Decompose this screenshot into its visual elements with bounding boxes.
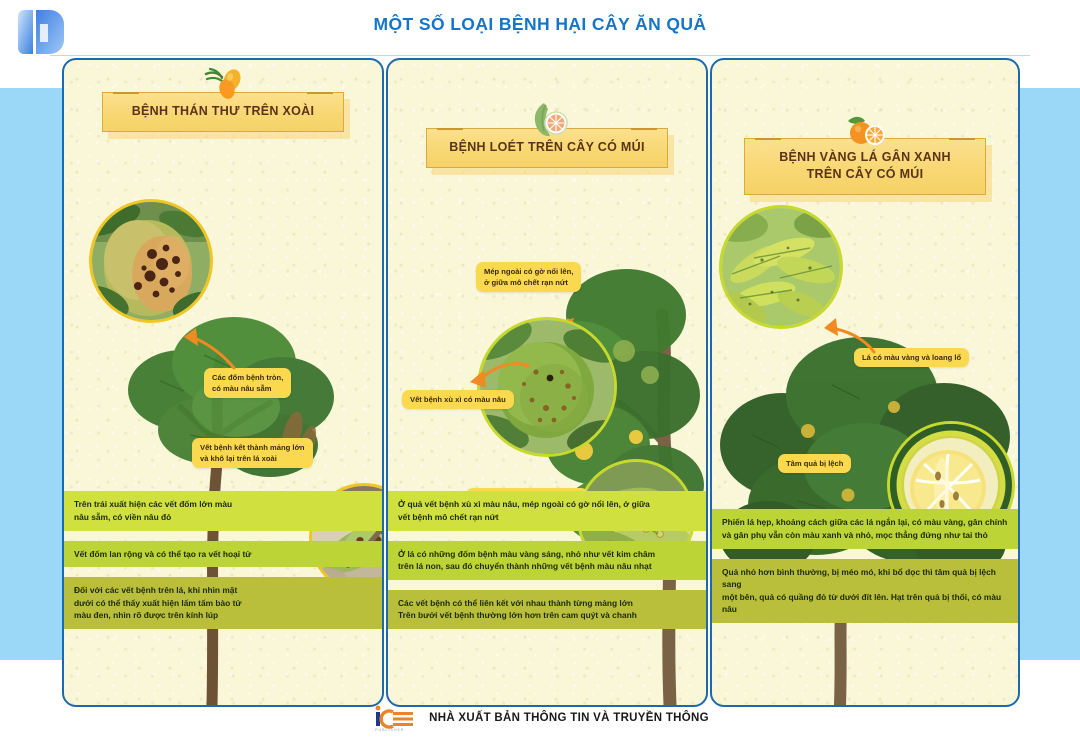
panel-citrus-canker: BỆNH LOÉT TRÊN CÂY CÓ MÚI Mép ngoài có g… — [386, 58, 708, 707]
footer: PUBLISHER NHÀ XUẤT BẢN THÔNG TIN VÀ TRUY… — [0, 704, 1080, 732]
panel-2-plaque: BỆNH LOÉT TRÊN CÂY CÓ MÚI — [426, 128, 668, 168]
orange-icon — [842, 111, 888, 149]
citrus-fruit-canker-photo — [480, 320, 614, 454]
page-title: MỘT SỐ LOẠI BỆNH HẠI CÂY ĂN QUẢ — [0, 14, 1080, 35]
panel-3-facts: Phiến lá hẹp, khoảng cách giữa các lá ng… — [712, 509, 1018, 633]
panel-3-heading-text: BỆNH VÀNG LÁ GÂN XANH TRÊN CÂY CÓ MÚI — [761, 149, 969, 183]
panel-1-plaque: BỆNH THÁN THƯ TRÊN XOÀI — [102, 92, 344, 132]
panel-mango-anthracnose: BỆNH THÁN THƯ TRÊN XOÀI — [62, 58, 384, 707]
header-divider — [50, 55, 1030, 56]
panel-citrus-greening: BỆNH VÀNG LÁ GÂN XANH TRÊN CÂY CÓ MÚI — [710, 58, 1020, 707]
panel-3-fact-1: Phiến lá hẹp, khoảng cách giữa các lá ng… — [712, 509, 1018, 548]
panel-1-facts: Trên trái xuất hiện các vết đốm lớn màu … — [64, 491, 382, 639]
greening-yellow-leaf-photo — [722, 208, 840, 326]
plaque-tick-right — [949, 138, 975, 140]
panel-1-fact-2: Vết đốm lan rộng và có thể tạo ra vết ho… — [64, 541, 382, 568]
plaque-tick-right — [631, 128, 657, 130]
panel-3-heading-block: BỆNH VÀNG LÁ GÂN XANH TRÊN CÂY CÓ MÚI — [712, 138, 1018, 195]
panel-2-callout-2: Vết bệnh xù xì có màu nâu — [402, 390, 514, 409]
panel-1-callout-2: Vết bệnh kết thành mảng lớn và khô lại t… — [192, 438, 313, 468]
plaque-tick-left — [113, 92, 139, 94]
panel-1-fact-3: Đối với các vết bệnh trên lá, khi nhìn m… — [64, 577, 382, 629]
panel-2-fact-1: Ở quả vết bệnh xù xì màu nâu, mép ngoài … — [388, 491, 706, 530]
panel-2-heading-text: BỆNH LOÉT TRÊN CÂY CÓ MÚI — [443, 139, 651, 156]
panel-3-callout-2: Tâm quả bị lệch — [778, 454, 851, 473]
plaque-tick-left — [755, 138, 781, 140]
publisher-caption: PUBLISHER — [375, 728, 404, 732]
mango-icon — [200, 65, 246, 103]
panel-1-heading-block: BỆNH THÁN THƯ TRÊN XOÀI — [64, 92, 382, 132]
infographic-canvas: MỘT SỐ LOẠI BỆNH HẠI CÂY ĂN QUẢ — [0, 0, 1080, 738]
ic-publisher-logo: PUBLISHER — [371, 704, 419, 732]
panel-2-fact-3: Các vết bệnh có thể liên kết với nhau th… — [388, 590, 706, 629]
background-band-right — [1016, 88, 1080, 660]
footer-text: NHÀ XUẤT BẢN THÔNG TIN VÀ TRUYỀN THÔNG — [429, 712, 709, 724]
panel-2-callout-1: Mép ngoài có gờ nổi lên, ở giữa mô chết … — [476, 262, 581, 292]
panel-1-callout-1: Các đốm bệnh tròn, có màu nâu sẫm — [204, 368, 291, 398]
plaque-tick-left — [437, 128, 463, 130]
mango-fruit-spots-photo — [92, 202, 210, 320]
panel-3-plaque: BỆNH VÀNG LÁ GÂN XANH TRÊN CÂY CÓ MÚI — [744, 138, 986, 195]
plaque-tick-right — [307, 92, 333, 94]
panel-1-heading-text: BỆNH THÁN THƯ TRÊN XOÀI — [119, 103, 327, 120]
panel-3-fact-2: Quả nhỏ hơn bình thường, bị méo mó, khi … — [712, 559, 1018, 623]
pomelo-icon — [524, 101, 570, 139]
panel-1-fact-1: Trên trái xuất hiện các vết đốm lớn màu … — [64, 491, 382, 530]
panel-2-heading-block: BỆNH LOÉT TRÊN CÂY CÓ MÚI — [388, 128, 706, 168]
panel-2-facts: Ở quả vết bệnh xù xì màu nâu, mép ngoài … — [388, 491, 706, 639]
panel-3-callout-1: Lá có màu vàng và loang lổ — [854, 348, 969, 367]
panel-2-fact-2: Ở lá có những đốm bệnh màu vàng sáng, nh… — [388, 541, 706, 580]
